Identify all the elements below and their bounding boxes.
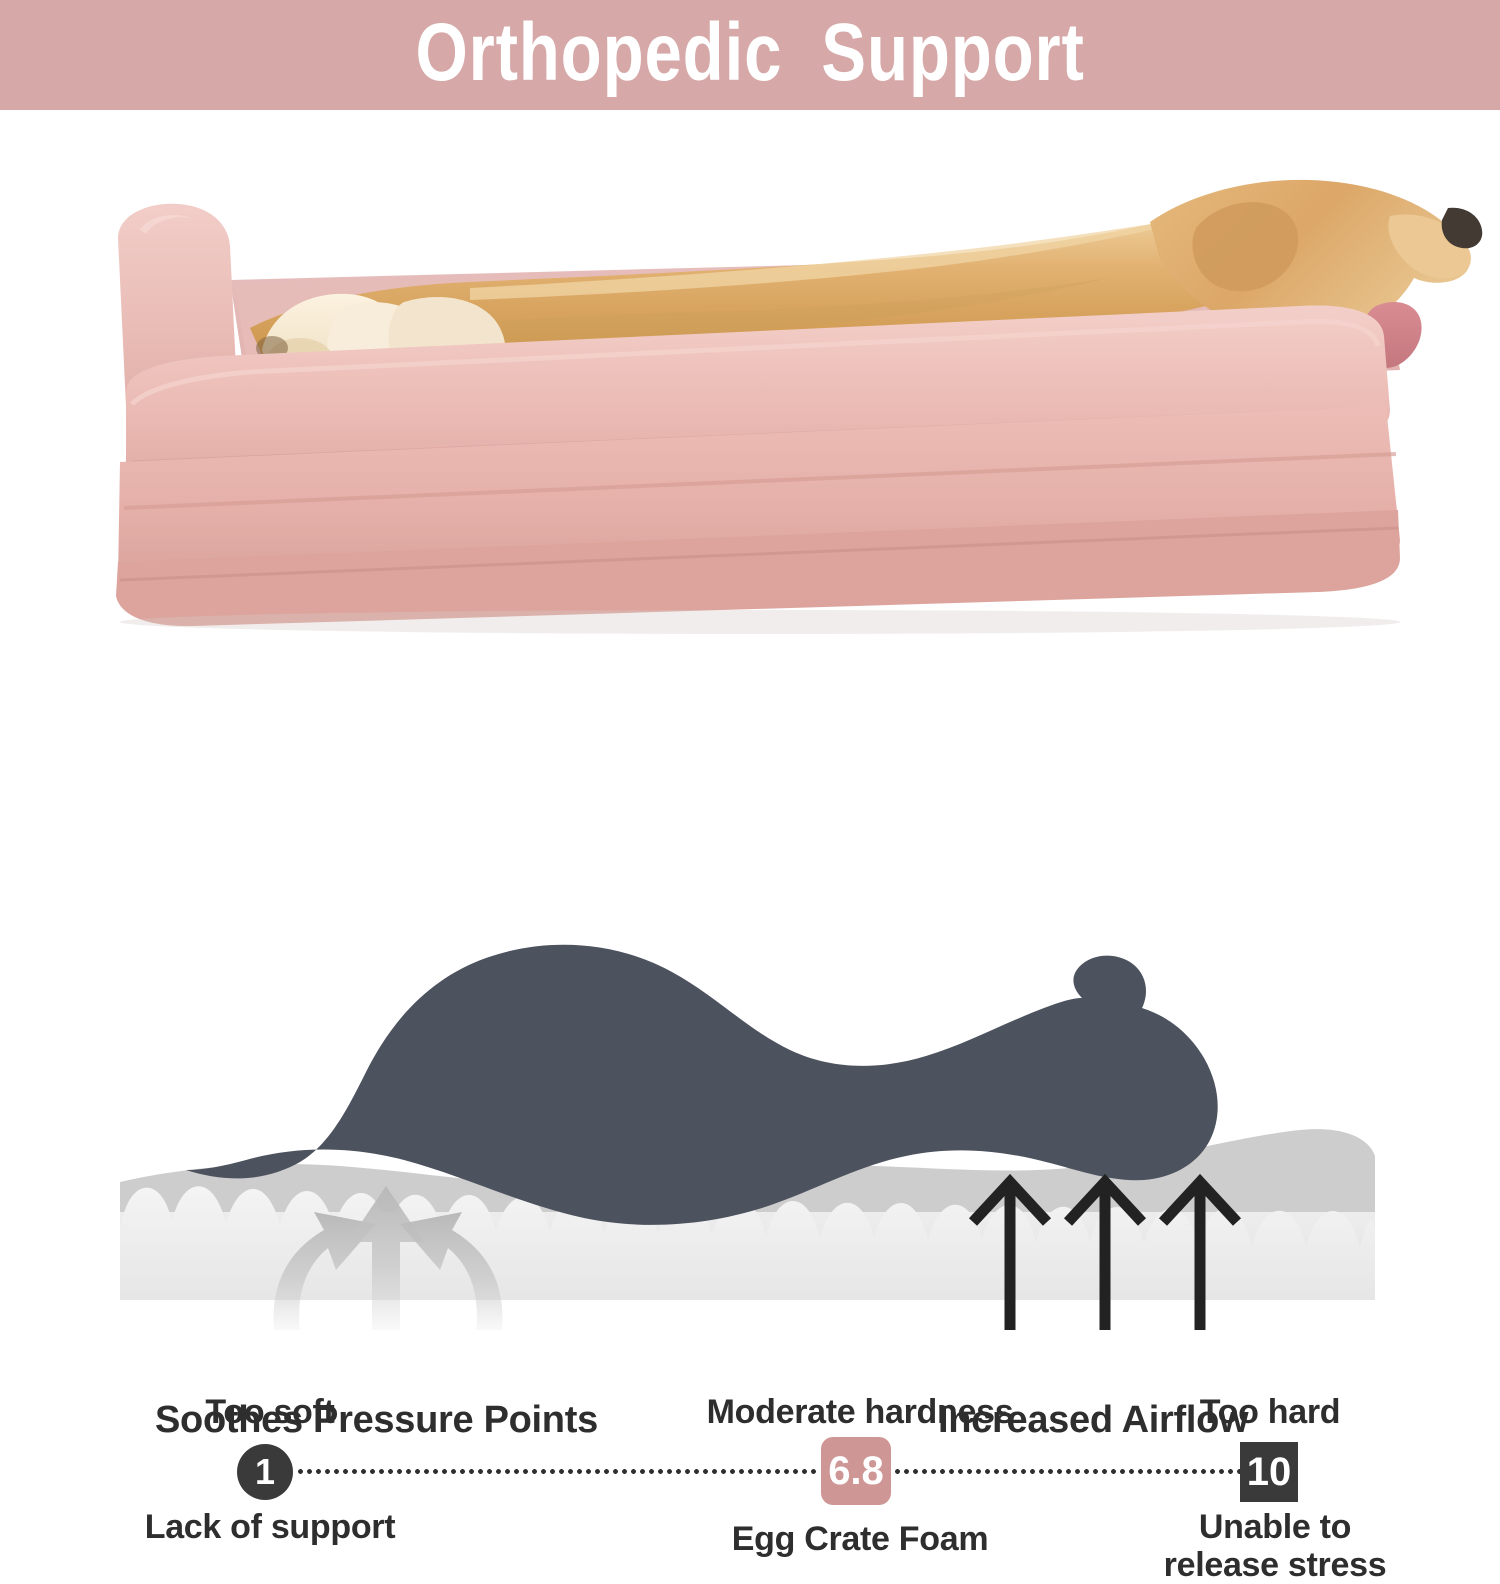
product-photo xyxy=(0,110,1500,670)
caption-soothes-pressure-points: Soothes Pressure Points xyxy=(155,1399,598,1442)
header-banner: Orthopedic Support xyxy=(0,0,1500,110)
scale-sublabel-lack-of-support: Lack of support xyxy=(70,1508,470,1546)
hardness-scale: Too soft 1 Lack of support Moderate hard… xyxy=(0,690,1500,920)
scale-connector-left xyxy=(296,1469,820,1474)
page-title: Orthopedic Support xyxy=(415,12,1084,94)
scale-sublabel-line-1: Unable to xyxy=(1110,1508,1440,1546)
scale-badge-10: 10 xyxy=(1240,1442,1298,1502)
scale-sublabel-line-2: release stress xyxy=(1110,1546,1440,1584)
foam-diagram xyxy=(0,930,1500,1330)
scale-badge-1: 1 xyxy=(237,1444,293,1500)
scale-connector-right xyxy=(893,1469,1241,1474)
caption-increased-airflow: Increased Airflow xyxy=(938,1399,1248,1442)
scale-badge-6-8: 6.8 xyxy=(821,1437,891,1505)
scale-sublabel-egg-crate-foam: Egg Crate Foam xyxy=(640,1520,1080,1558)
airflow-arrows xyxy=(973,1182,1237,1330)
scale-sublabel-unable-to-release-stress: Unable to release stress xyxy=(1110,1508,1440,1584)
